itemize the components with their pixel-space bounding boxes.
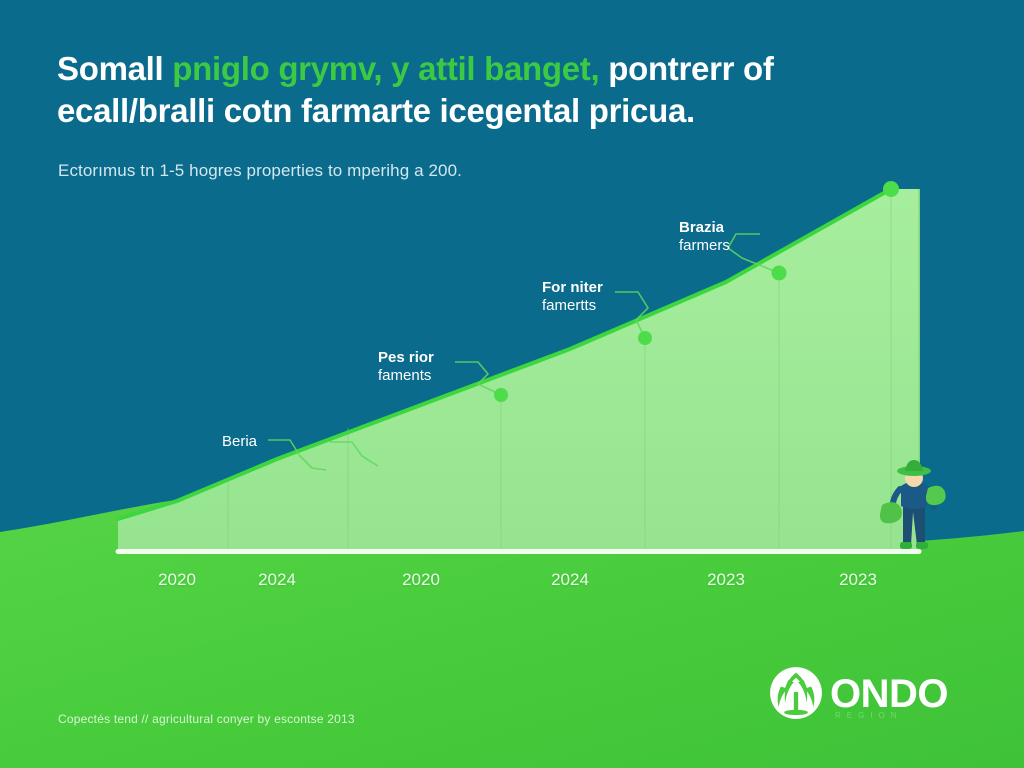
- tree-emblem-icon: [769, 666, 823, 720]
- x-axis-label-0: 2020: [158, 570, 196, 590]
- x-axis-label-4: 2023: [707, 570, 745, 590]
- annotation-brazia-line2: farmers: [679, 237, 730, 255]
- page-title: Somall pniglo grymv, y attil banget, pon…: [57, 48, 897, 132]
- headline-accent: pniglo grymv, y attil banget,: [172, 50, 599, 87]
- footer-caption: Copectés tend // agricultural conyer by …: [58, 712, 355, 726]
- x-axis-label-1: 2024: [258, 570, 296, 590]
- annotation-pes-rior-line2: faments: [378, 367, 434, 385]
- annotation-for-niter-line1: For niter: [542, 279, 603, 297]
- annotation-brazia-line1: Brazia: [679, 219, 730, 237]
- annotation-brazia: Brazia farmers: [679, 219, 730, 254]
- annotation-pes-rior-line1: Pes rior: [378, 349, 434, 367]
- x-axis-label-5: 2023: [839, 570, 877, 590]
- infographic-canvas: Somall pniglo grymv, y attil banget, pon…: [0, 0, 1024, 768]
- annotation-beria: Beria: [222, 433, 257, 451]
- brand-logo: ONDO REGION: [769, 666, 948, 720]
- x-axis-label-2: 2020: [402, 570, 440, 590]
- headline-part2: pontrerr of: [599, 50, 773, 87]
- x-axis-label-3: 2024: [551, 570, 589, 590]
- headline-line2: ecall/bralli cotn farmarte icegental pri…: [57, 92, 695, 129]
- page-subtitle: Ectorımus tn 1-5 hogres properties to mp…: [58, 161, 462, 181]
- annotation-pes-rior: Pes rior faments: [378, 349, 434, 384]
- annotation-beria-line1: Beria: [222, 433, 257, 451]
- annotation-for-niter-line2: famertts: [542, 297, 603, 315]
- headline-part1: Somall: [57, 50, 172, 87]
- brand-wordmark: ONDO: [830, 674, 948, 714]
- brand-subtext: REGION: [835, 711, 903, 720]
- annotation-for-niter: For niter famertts: [542, 279, 603, 314]
